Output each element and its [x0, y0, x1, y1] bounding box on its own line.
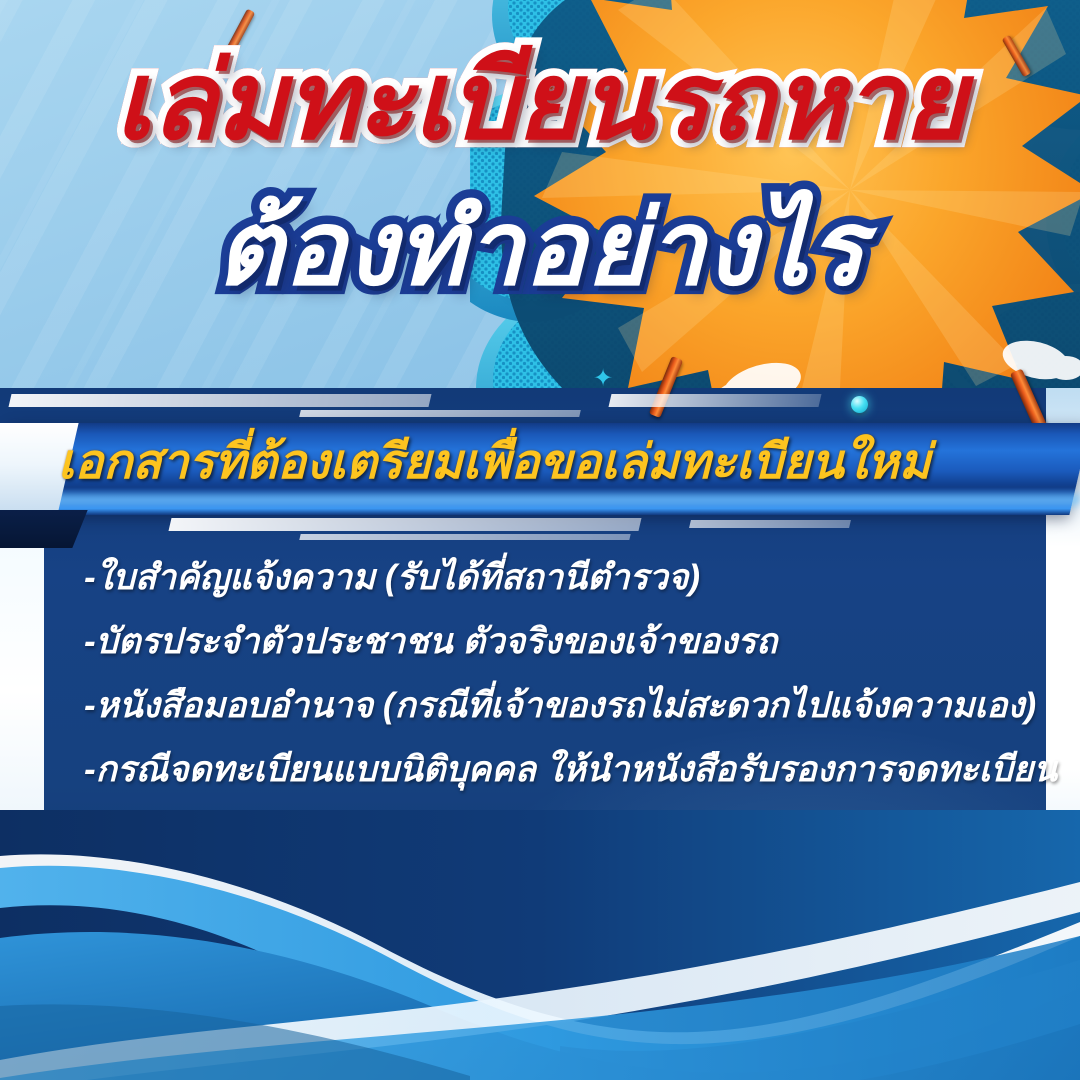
banner-accent-stripe [168, 518, 641, 531]
banner-accent-stripe [689, 520, 851, 528]
banner-tail [0, 510, 88, 548]
headline-primary: เล่มทะเบียนรถหาย [0, 42, 1080, 161]
list-item: -บัตรประจำตัวประชาชน ตัวจริงของเจ้าของรถ [84, 624, 1034, 659]
poster-canvas: เล่มทะเบียนรถหาย ต้องทำอย่างไร ✦ เอกสารท… [0, 0, 1080, 1080]
sparkle-icon: ✦ [592, 368, 614, 390]
list-item: -กรณีจดทะเบียนแบบนิติบุคคล ให้นำหนังสือร… [84, 752, 1034, 787]
banner-accent-stripe [299, 410, 581, 417]
headline-secondary: ต้องทำอย่างไร [0, 190, 1080, 310]
list-item: -ใบสำคัญแจ้งความ (รับได้ที่สถานีตำรวจ) [84, 560, 1034, 595]
banner-accent-stripe [608, 394, 821, 407]
requirements-list: -ใบสำคัญแจ้งความ (รับได้ที่สถานีตำรวจ) -… [84, 560, 1034, 851]
blue-wave-decoration [0, 810, 1080, 1080]
banner-accent-stripe [299, 534, 630, 540]
list-item: -หนังสือมอบอำนาจ (กรณีที่เจ้าของรถไม่สะด… [84, 688, 1034, 723]
banner-title: เอกสารที่ต้องเตรียมเพื่อขอเล่มทะเบียนใหม… [58, 424, 1058, 500]
banner-accent-stripe [8, 394, 431, 407]
